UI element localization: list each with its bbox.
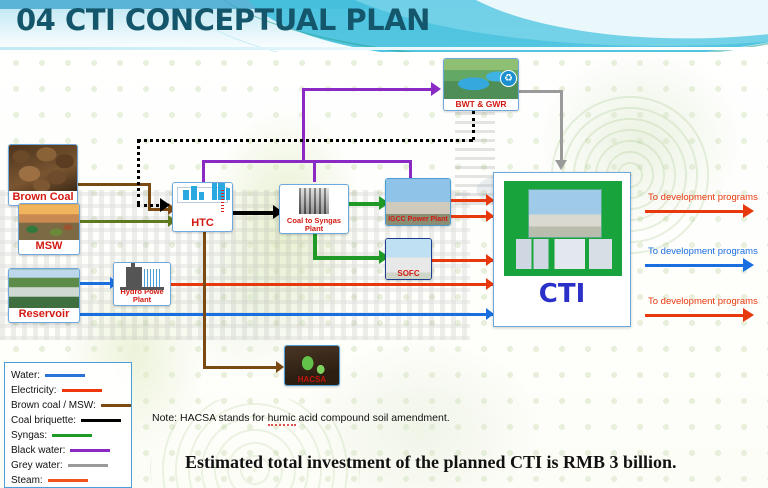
water-treatment-photo: ♻ (444, 59, 518, 99)
node-bwt-gwr[interactable]: ♻ BWT & GWR (443, 58, 519, 111)
node-reservoir[interactable]: Reservoir (8, 268, 80, 323)
line-blackwater-bus (202, 160, 412, 163)
node-cti[interactable]: CTI (493, 172, 631, 327)
legend-swatch-syngas (52, 434, 92, 437)
arrowhead-output-3 (743, 308, 754, 322)
line-greywater-v (560, 90, 563, 162)
legend-label-steam: Steam: (11, 475, 43, 486)
arrowhead-greywater-to-cti (555, 160, 567, 170)
municipal-solid-waste-photo (19, 204, 79, 240)
slide-header: 04 CTI CONCEPTUAL PLAN (0, 0, 768, 52)
line-output-1 (645, 210, 750, 213)
dam-reservoir-photo (9, 269, 79, 308)
line-greywater-h (519, 90, 562, 93)
line-reservoir-to-hydro (78, 282, 112, 285)
legend-item-steam: Steam: (11, 473, 131, 488)
line-htc-to-syngas (233, 211, 277, 215)
legend-label-brown-coal-msw: Brown coal / MSW: (11, 400, 96, 411)
line-recycle-dotted-v2 (137, 139, 140, 205)
legend-label-syngas: Syngas: (11, 430, 47, 441)
legend-box: Water: Electricity: Brown coal / MSW: Co… (4, 362, 132, 488)
investment-statement: Estimated total investment of the planne… (185, 452, 677, 473)
coal-pile-photo (9, 145, 77, 191)
node-msw[interactable]: MSW (18, 203, 80, 255)
line-syngas-to-sofc-h (313, 256, 385, 260)
cti-industrial-photo (528, 189, 602, 238)
line-hydro-to-cti (170, 283, 493, 286)
node-igcc-label: IGCC Power Plant (386, 215, 450, 224)
line-output-3 (645, 314, 750, 317)
node-syngas-label: Coal to Syngas Plant (280, 214, 348, 234)
node-sofc-label: SOFC (386, 269, 431, 279)
legend-label-coal-briquette: Coal briquette: (11, 415, 76, 426)
arrowhead-output-1 (743, 204, 754, 218)
htc-plant-icon (173, 183, 232, 217)
recycle-icon: ♻ (500, 70, 517, 87)
line-htc-to-hacsa-v (203, 232, 206, 368)
line-htc-to-hacsa-h (203, 366, 279, 369)
node-bwt-label: BWT & GWR (444, 99, 518, 110)
node-hacsa-label: HACSA (285, 375, 339, 385)
node-hacsa[interactable]: HACSA (284, 345, 340, 386)
line-blackwater-to-bwt (302, 88, 437, 91)
line-blackwater-riser-syngas (313, 160, 316, 182)
legend-label-grey-water: Grey water: (11, 460, 63, 471)
footnote: Note: HACSA stands for humic acid compou… (152, 412, 450, 424)
cti-plant-graphic (516, 239, 612, 269)
footnote-highlight: humic (268, 412, 296, 426)
legend-label-water: Water: (11, 370, 40, 381)
syngas-plant-photo (299, 188, 329, 214)
legend-swatch-steam (48, 479, 88, 482)
line-msw (78, 220, 170, 223)
legend-item-water: Water: (11, 368, 131, 383)
hydro-power-plant-icon (114, 263, 170, 287)
cti-green-panel (504, 181, 622, 276)
node-igcc-power-plant[interactable]: IGCC Power Plant (385, 178, 451, 226)
legend-label-black-water: Black water: (11, 445, 65, 456)
slide-canvas: 04 CTI CONCEPTUAL PLAN (0, 0, 768, 488)
legend-item-grey-water: Grey water: (11, 458, 131, 473)
node-htc[interactable]: HTC (172, 182, 233, 232)
node-htc-label: HTC (173, 217, 232, 231)
legend-item-coal-briquette: Coal briquette: (11, 413, 131, 428)
node-msw-label: MSW (19, 240, 79, 254)
legend-item-brown-coal-msw: Brown coal / MSW: (11, 398, 131, 413)
legend-item-electricity: Electricity: (11, 383, 131, 398)
arrowhead-blackwater-to-bwt (431, 82, 441, 96)
header-underline (0, 47, 768, 50)
line-recycle-dotted-v1 (472, 111, 475, 140)
footnote-suffix: acid compound soil amendment. (296, 412, 450, 424)
line-sofc-to-cti (432, 259, 493, 262)
legend-swatch-water (45, 374, 85, 377)
legend-swatch-coal-briquette (81, 419, 121, 422)
node-sofc[interactable]: SOFC (385, 238, 432, 280)
line-blackwater-up (302, 88, 305, 162)
output-label-2: To development programs (648, 246, 758, 257)
arrowhead-recycle-to-htc (160, 198, 170, 212)
line-output-2 (645, 264, 750, 267)
footnote-prefix: Note: HACSA stands for (152, 412, 268, 424)
page-title: 04 CTI CONCEPTUAL PLAN (16, 3, 430, 37)
node-reservoir-label: Reservoir (9, 308, 79, 322)
output-label-3: To development programs (648, 296, 758, 307)
output-label-1: To development programs (648, 192, 758, 203)
legend-swatch-black-water (70, 449, 110, 452)
arrowhead-output-2 (743, 258, 754, 272)
node-cti-label: CTI (494, 279, 630, 309)
line-recycle-dotted-h (137, 139, 473, 142)
line-blackwater-riser-htc (202, 160, 205, 182)
line-reservoir-to-cti (78, 313, 493, 316)
legend-item-black-water: Black water: (11, 443, 131, 458)
legend-item-syngas: Syngas: (11, 428, 131, 443)
legend-swatch-brown-coal-msw (101, 404, 132, 407)
legend-swatch-electricity (62, 389, 102, 392)
legend-swatch-grey-water (68, 464, 108, 467)
node-hydro-power-plant[interactable]: Hydro Powe Plant (113, 262, 171, 306)
arrowhead-htc-to-hacsa (276, 361, 284, 373)
legend-label-electricity: Electricity: (11, 385, 57, 396)
node-coal-to-syngas-plant[interactable]: Coal to Syngas Plant (279, 184, 349, 234)
node-brown-coal[interactable]: Brown Coal (8, 144, 78, 206)
